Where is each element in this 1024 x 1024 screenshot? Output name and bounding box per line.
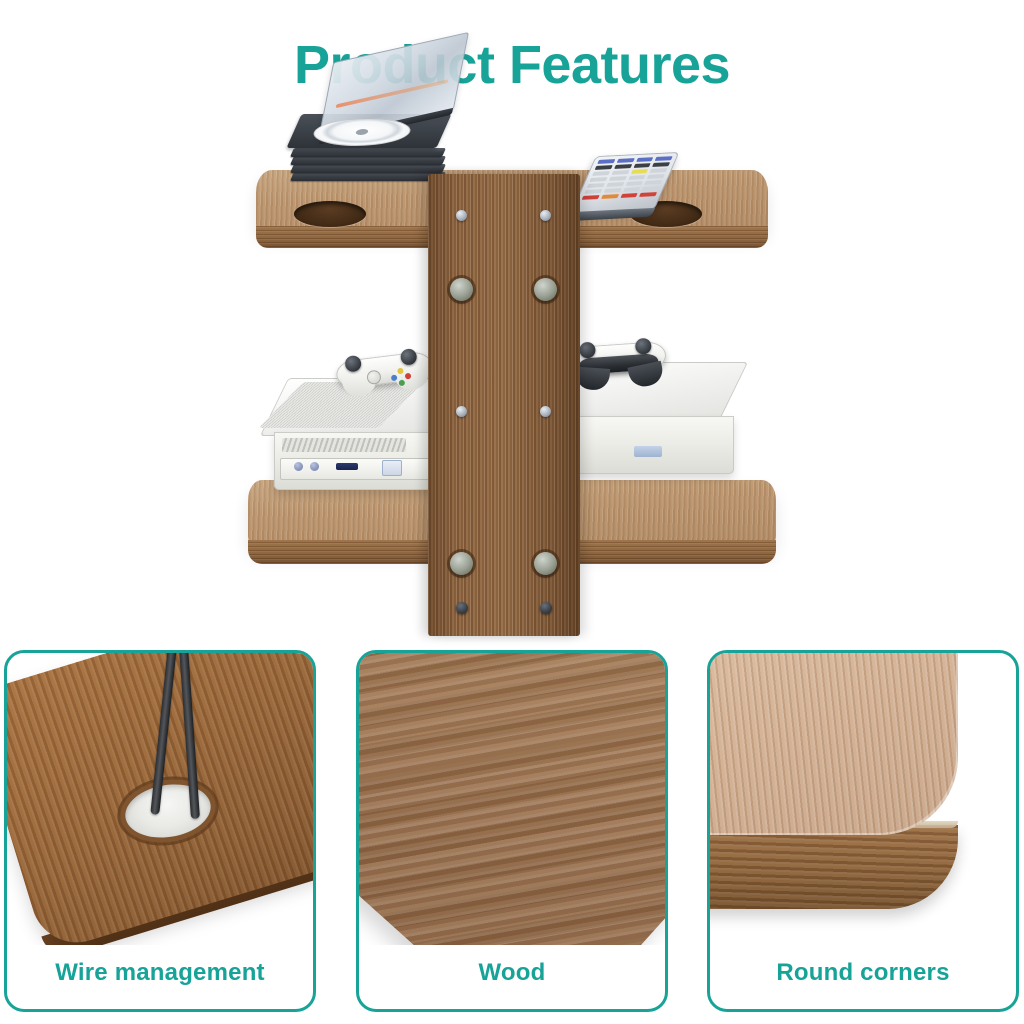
wire-management-illustration — [7, 653, 313, 945]
product-stage — [232, 96, 792, 648]
cup-hole-left — [294, 201, 366, 227]
game-controller-right — [569, 333, 668, 382]
center-support-post — [428, 174, 580, 636]
game-controller-left — [334, 342, 434, 395]
feature-panel-round-corners[interactable]: Round corners — [707, 650, 1019, 1012]
hero-product-image — [0, 96, 1024, 648]
page-title: Product Features — [0, 36, 1024, 95]
game-case-stack — [292, 134, 444, 182]
feature-panel-wood[interactable]: Wood — [356, 650, 668, 1012]
feature-panel-wire-management[interactable]: Wire management — [4, 650, 316, 1012]
round-corners-illustration — [710, 653, 1016, 945]
wood-illustration — [359, 653, 665, 945]
feature-label-wire-management: Wire management — [7, 959, 313, 987]
feature-label-wood: Wood — [359, 959, 665, 987]
feature-panels: Wire management Wood Round corners — [0, 650, 1024, 1016]
feature-label-round-corners: Round corners — [710, 959, 1016, 987]
